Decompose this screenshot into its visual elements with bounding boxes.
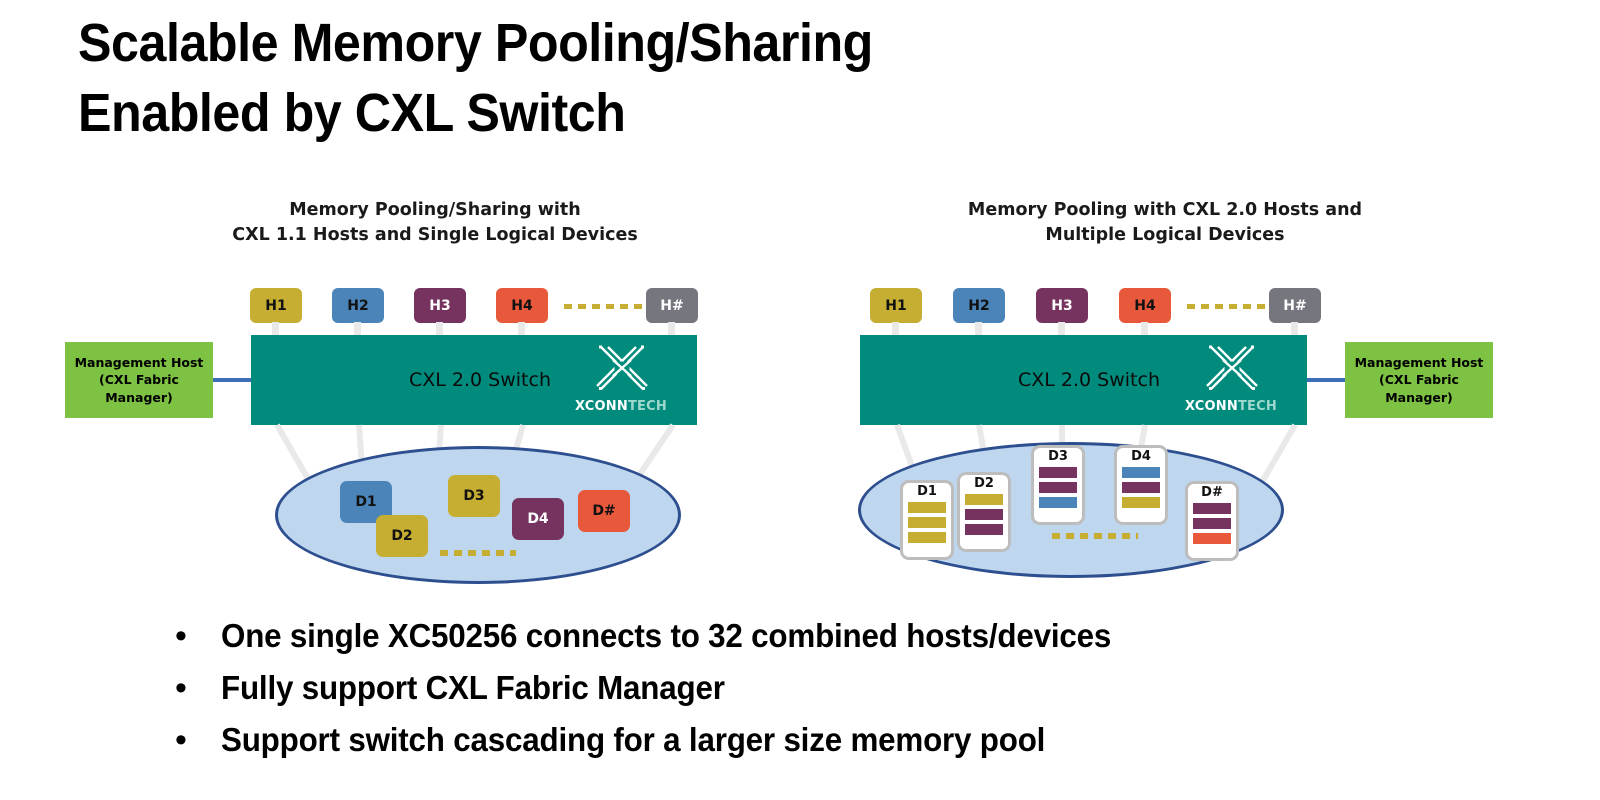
diagram-panel-right: Memory Pooling with CXL 2.0 Hosts and Mu… — [790, 190, 1520, 590]
cxl-switch-bar-right[interactable]: CXL 2.0 Switch — [860, 335, 1307, 425]
mld-stripe — [1039, 467, 1077, 478]
mld-card-d4[interactable]: D4 — [1114, 445, 1168, 525]
mld-stripe — [1122, 482, 1160, 493]
xconn-brand: XCONN — [1185, 399, 1238, 414]
device-box-dsharp[interactable]: D# — [578, 490, 630, 532]
xconn-x-icon — [1201, 344, 1263, 392]
host-box-h3[interactable]: H3 — [1036, 288, 1088, 323]
host-box-h2[interactable]: H2 — [332, 288, 384, 323]
management-host-line1: Management Host — [1355, 354, 1484, 372]
device-ellipsis-dots — [440, 550, 516, 556]
host-label: H4 — [1134, 298, 1155, 314]
bullet-list: • One single XC50256 connects to 32 comb… — [175, 612, 1555, 768]
management-host-link-right — [1307, 378, 1345, 382]
host-ellipsis-dots — [1187, 304, 1265, 309]
host-label: H# — [1283, 298, 1306, 314]
mld-card-d2[interactable]: D2 — [957, 472, 1011, 552]
bullet-marker: • — [175, 723, 221, 757]
device-label: D# — [1188, 486, 1236, 501]
mld-stripe — [908, 532, 946, 543]
host-box-hsharp[interactable]: H# — [646, 288, 698, 323]
device-ellipsis-dots — [1052, 533, 1138, 539]
cxl-switch-bar-left[interactable]: CXL 2.0 Switch — [251, 335, 697, 425]
mld-stripe — [965, 494, 1003, 505]
host-box-h1[interactable]: H1 — [250, 288, 302, 323]
mld-stripe-group — [1193, 503, 1231, 544]
switch-pool-link-1 — [274, 424, 310, 481]
host-label: H1 — [265, 298, 286, 314]
host-row-right: H1 H2 H3 H4 H# — [790, 288, 1520, 340]
management-host-box-left[interactable]: Management Host (CXL Fabric Manager) — [65, 342, 213, 418]
mld-stripe — [1039, 497, 1077, 508]
mld-stripe — [1039, 482, 1077, 493]
mld-stripe — [1193, 503, 1231, 514]
mld-stripe-group — [1039, 467, 1077, 508]
mld-card-dsharp[interactable]: D# — [1185, 481, 1239, 561]
page-title: Scalable Memory Pooling/Sharing Enabled … — [78, 8, 1194, 148]
cxl-switch-label: CXL 2.0 Switch — [1018, 369, 1160, 391]
device-box-d3[interactable]: D3 — [448, 475, 500, 517]
host-label: H# — [660, 298, 683, 314]
host-label: H2 — [968, 298, 989, 314]
management-host-line1: Management Host — [75, 354, 204, 372]
device-label: D1 — [355, 494, 376, 510]
device-box-d4[interactable]: D4 — [512, 498, 564, 540]
diagram-panel-left: Memory Pooling/Sharing with CXL 1.1 Host… — [60, 190, 790, 590]
host-box-h4[interactable]: H4 — [496, 288, 548, 323]
host-box-h3[interactable]: H3 — [414, 288, 466, 323]
xconn-logo-left: XCONNTECH — [567, 344, 675, 416]
xconn-x-icon — [591, 344, 653, 392]
mld-stripe-group — [908, 502, 946, 543]
host-box-hsharp[interactable]: H# — [1269, 288, 1321, 323]
device-label: D1 — [903, 485, 951, 500]
device-label: D# — [592, 503, 615, 519]
mld-card-d3[interactable]: D3 — [1031, 445, 1085, 525]
bullet-item-2: • Fully support CXL Fabric Manager — [175, 664, 1555, 712]
bullet-text: Fully support CXL Fabric Manager — [221, 664, 725, 712]
device-label: D2 — [391, 528, 412, 544]
panel-caption-left: Memory Pooling/Sharing with CXL 1.1 Host… — [155, 198, 715, 249]
host-box-h1[interactable]: H1 — [870, 288, 922, 323]
xconn-logo-text: XCONNTECH — [567, 399, 675, 414]
mld-stripe — [908, 502, 946, 513]
mld-stripe — [1122, 497, 1160, 508]
host-box-h2[interactable]: H2 — [953, 288, 1005, 323]
panel-caption-right: Memory Pooling with CXL 2.0 Hosts and Mu… — [885, 198, 1445, 249]
bullet-marker: • — [175, 671, 221, 705]
host-label: H1 — [885, 298, 906, 314]
xconn-logo-text: XCONNTECH — [1177, 399, 1285, 414]
mld-stripe — [1122, 467, 1160, 478]
xconn-suffix: TECH — [1238, 399, 1277, 414]
bullet-item-3: • Support switch cascading for a larger … — [175, 716, 1555, 764]
xconn-logo-right: XCONNTECH — [1177, 344, 1285, 416]
host-label: H4 — [511, 298, 532, 314]
host-box-h4[interactable]: H4 — [1119, 288, 1171, 323]
switch-pool-link-5 — [1259, 424, 1297, 484]
mld-stripe — [1193, 518, 1231, 529]
bullet-text: One single XC50256 connects to 32 combin… — [221, 612, 1111, 660]
host-label: H3 — [429, 298, 450, 314]
device-label: D4 — [527, 511, 548, 527]
mld-stripe — [1193, 533, 1231, 544]
management-host-box-right[interactable]: Management Host (CXL Fabric Manager) — [1345, 342, 1493, 418]
device-label: D3 — [463, 488, 484, 504]
bullet-text: Support switch cascading for a larger si… — [221, 716, 1045, 764]
host-label: H3 — [1051, 298, 1072, 314]
mld-stripe — [908, 517, 946, 528]
cxl-switch-label: CXL 2.0 Switch — [409, 369, 551, 391]
management-host-line2: (CXL Fabric Manager) — [65, 371, 213, 406]
host-ellipsis-dots — [564, 304, 642, 309]
device-label: D3 — [1034, 450, 1082, 465]
device-label: D2 — [960, 477, 1008, 492]
host-label: H2 — [347, 298, 368, 314]
management-host-link-left — [213, 378, 251, 382]
device-label: D4 — [1117, 450, 1165, 465]
device-box-d2[interactable]: D2 — [376, 515, 428, 557]
mld-card-d1[interactable]: D1 — [900, 480, 954, 560]
mld-stripe — [965, 509, 1003, 520]
bullet-marker: • — [175, 619, 221, 653]
mld-stripe-group — [965, 494, 1003, 535]
bullet-item-1: • One single XC50256 connects to 32 comb… — [175, 612, 1555, 660]
xconn-suffix: TECH — [628, 399, 667, 414]
mld-stripe-group — [1122, 467, 1160, 508]
management-host-line2: (CXL Fabric Manager) — [1345, 371, 1493, 406]
mld-stripe — [965, 524, 1003, 535]
host-row-left: H1 H2 H3 H4 H# — [60, 288, 790, 340]
xconn-brand: XCONN — [575, 399, 628, 414]
